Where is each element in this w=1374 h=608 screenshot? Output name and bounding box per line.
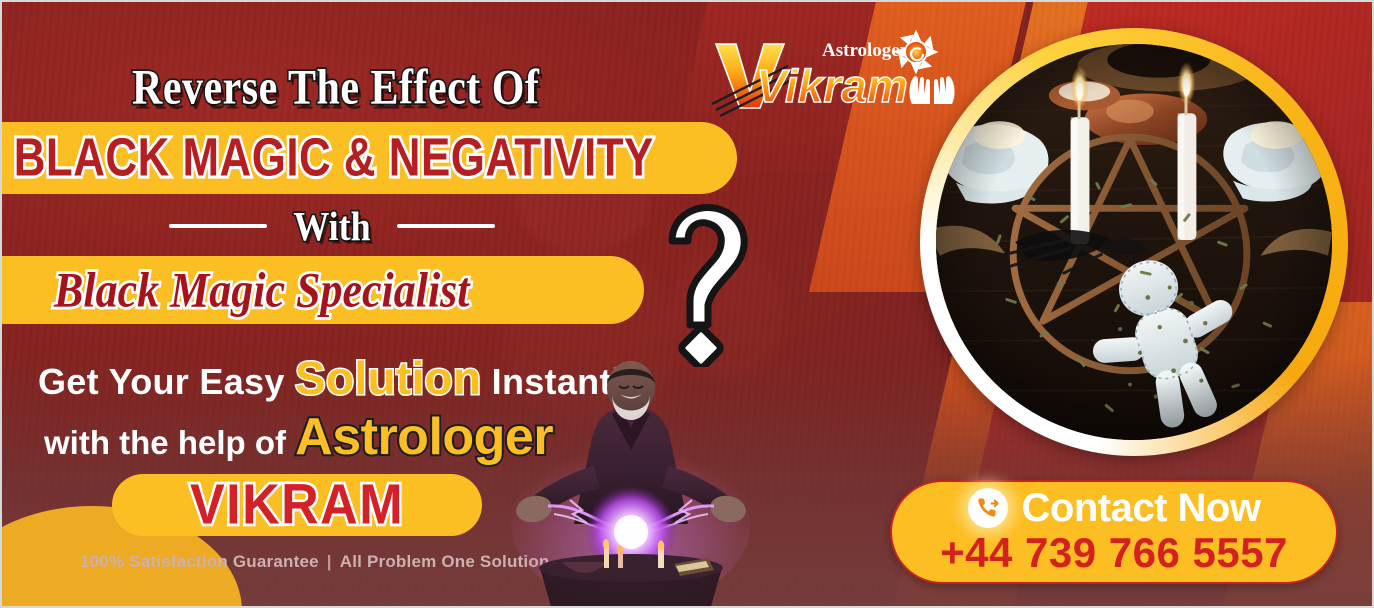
headline-line-1: Reverse The Effect Of <box>132 60 539 117</box>
tagline-left: 100% Satisfaction Guarantee <box>80 552 319 571</box>
promo-banner: Reverse The Effect Of BLACK MAGIC & NEGA… <box>0 0 1374 608</box>
tagline-right: All Problem One Solution <box>340 552 550 571</box>
sub-line-astrologer-pre: with the help of <box>44 424 295 461</box>
sub-line-solution-pre: Get Your Easy <box>38 361 295 402</box>
sun-icon <box>896 32 936 72</box>
headline-line-2: BLACK MAGIC & NEGATIVITY <box>14 127 654 189</box>
tagline: 100% Satisfaction Guarantee|All Problem … <box>80 552 550 572</box>
contact-label-row: Contact Now <box>968 488 1261 528</box>
connector-word: With <box>293 202 370 250</box>
logo-brand-word: Vikram <box>756 60 908 112</box>
contact-now-label: Contact Now <box>1022 488 1261 528</box>
ritual-photo-frame <box>920 28 1348 456</box>
astrologer-name-button[interactable]: VIKRAM <box>112 474 482 536</box>
ritual-pentagram-altar-photo <box>936 44 1332 440</box>
tagline-divider: | <box>327 552 332 571</box>
divider-line-left <box>169 224 267 228</box>
brand-logo[interactable]: Vikram Astrologer <box>710 30 960 112</box>
sub-line-solution-post: Instantly <box>481 361 642 402</box>
contact-now-button[interactable]: Contact Now +44 739 766 5557 <box>890 480 1338 584</box>
headline-banner-black-magic: BLACK MAGIC & NEGATIVITY <box>0 122 737 194</box>
phone-forward-icon <box>968 488 1008 528</box>
headline-line-3: Black Magic Specialist <box>54 261 470 318</box>
sub-line-astrologer: with the help of Astrologer <box>44 407 553 467</box>
contact-phone-number[interactable]: +44 739 766 5557 <box>940 532 1288 574</box>
astrologer-name-label: VIKRAM <box>190 473 404 538</box>
connector-row: With <box>2 205 662 247</box>
logo-brand-prefix: Astrologer <box>822 40 909 61</box>
sub-line-solution-accent: Solution <box>295 352 481 404</box>
left-content-column: Reverse The Effect Of BLACK MAGIC & NEGA… <box>2 2 802 606</box>
headline-banner-specialist: Black Magic Specialist <box>0 256 644 324</box>
sub-line-solution: Get Your Easy Solution Instantly <box>38 351 642 405</box>
sub-line-astrologer-accent: Astrologer <box>295 408 553 466</box>
divider-line-right <box>397 224 495 228</box>
question-mark-icon <box>650 197 760 367</box>
praying-hands-icon <box>909 76 954 104</box>
